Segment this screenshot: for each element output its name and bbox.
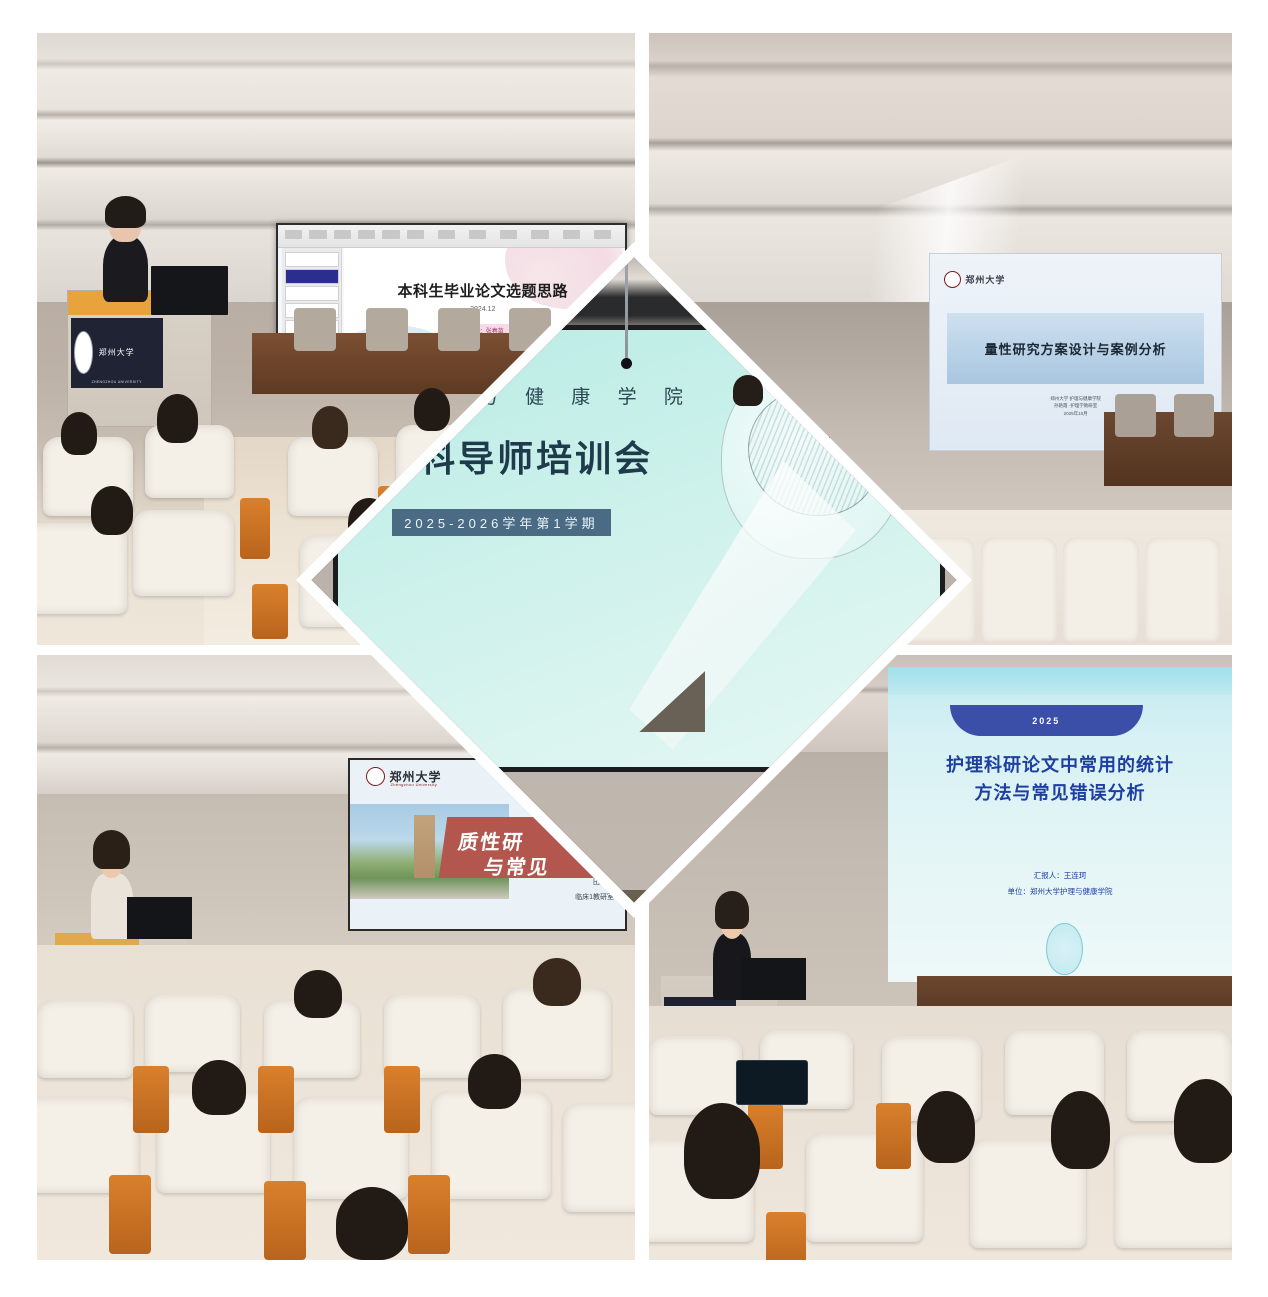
slide-title-top-left: 本科生毕业论文选题思路 [344,280,621,301]
audience-head [468,1054,522,1108]
audience-head [414,388,450,431]
audience-head [917,1091,975,1164]
slide-university-logo: 郑州大学 [944,266,1043,293]
slide-presenter-affiliation: 临床1教研室 [575,891,614,906]
university-seal-icon [74,331,93,373]
slide-unit-line: 单位：郑州大学护理与健康学院 [888,884,1232,900]
slide-university-logo: 郑州大学 Zhengzhou University [366,767,441,786]
photo-collage: 本科生毕业论文选题思路 2024.12 汇报人：张春苗 郑州大学护理与健康学院 … [0,0,1268,1297]
unit-label: 单位： [1008,887,1031,896]
slide-year-text: 2025 [1032,716,1060,726]
audience-head [1051,1091,1109,1170]
seat-armrest [133,1066,169,1133]
seat-armrest [258,1066,294,1133]
center-slide-line3: 2025-2026学年第1学期 [392,509,610,536]
slide-presenter-name: 田雨同 [575,876,614,891]
seat-armrest [876,1103,911,1170]
presenter-top-left [103,235,148,302]
audience-seat [37,523,127,615]
ceiling-microphone-icon [625,258,628,362]
head-chair [1115,394,1156,437]
slide-presenter-block: 汇报人：王连珂 单位：郑州大学护理与健康学院 [888,868,1232,900]
slide-title-line2: 方法与常见错误分析 [975,783,1146,803]
lectern-monitor [151,266,229,315]
audience-head [684,1103,760,1200]
seat-armrest [109,1175,151,1254]
slide-presenter-line: 汇报人：王连珂 [888,868,1232,884]
seat-armrest [408,1175,450,1254]
university-seal-icon [366,767,385,786]
presenter-label: 汇报人： [1034,871,1064,880]
slide-title-band: 量性研究方案设计与案例分析 [947,313,1204,383]
slide-title-top-right: 量性研究方案设计与案例分析 [985,339,1167,358]
audience-head [192,1060,246,1114]
audience-head [91,486,133,535]
audience-seat [563,1103,635,1212]
slide-title-line1: 护理科研论文中常用的统计 [946,755,1174,775]
lectern-university-name-en: ZHENGZHOU UNIVERSITY [92,380,142,384]
seat-armrest [252,584,288,639]
projection-screen-bottom-right: 2025 护理科研论文中常用的统计 方法与常见错误分析 汇报人：王连珂 单位：郑… [888,667,1232,982]
slide-university-name-en: Zhengzhou University [390,782,437,787]
seat-armrest [384,1066,420,1133]
lectern-monitor [127,897,193,939]
head-chair [438,308,480,351]
audience-head [533,958,581,1006]
nursing-college-emblem-icon [1046,923,1082,975]
phone-taking-photo [736,1060,808,1104]
seat-armrest [766,1212,807,1260]
audience-seat [37,1000,133,1079]
slide-title-line2: 与常见 [483,851,553,880]
slide-year-badge: 2025 [950,705,1143,736]
audience-head [157,394,199,443]
audience-head [61,412,97,455]
audience-head [1174,1079,1232,1164]
powerpoint-ribbon [278,225,625,248]
screen-top-band [888,667,1232,695]
head-chair [1174,394,1215,437]
slide-university-name: 郑州大学 [965,273,1005,286]
audience-head [336,1187,408,1260]
head-chair [294,308,336,351]
lectern-university-name: 郑州大学 [99,347,135,358]
seat-armrest [240,498,270,559]
head-chair [366,308,408,351]
unit-name: 郑州大学护理与健康学院 [1030,887,1113,896]
presenter-name: 王连珂 [1064,871,1087,880]
university-seal-icon [944,271,961,288]
clock-tower [414,815,435,878]
audience-head [294,970,342,1018]
lectern-monitor [742,958,806,1000]
audience-seat [133,510,235,596]
seat-armrest [264,1181,306,1260]
slide-presenter-block: 田雨同 临床1教研室 [575,876,614,905]
slide-title-bottom-right: 护理科研论文中常用的统计 方法与常见错误分析 [888,752,1232,808]
audience-head [312,406,348,449]
